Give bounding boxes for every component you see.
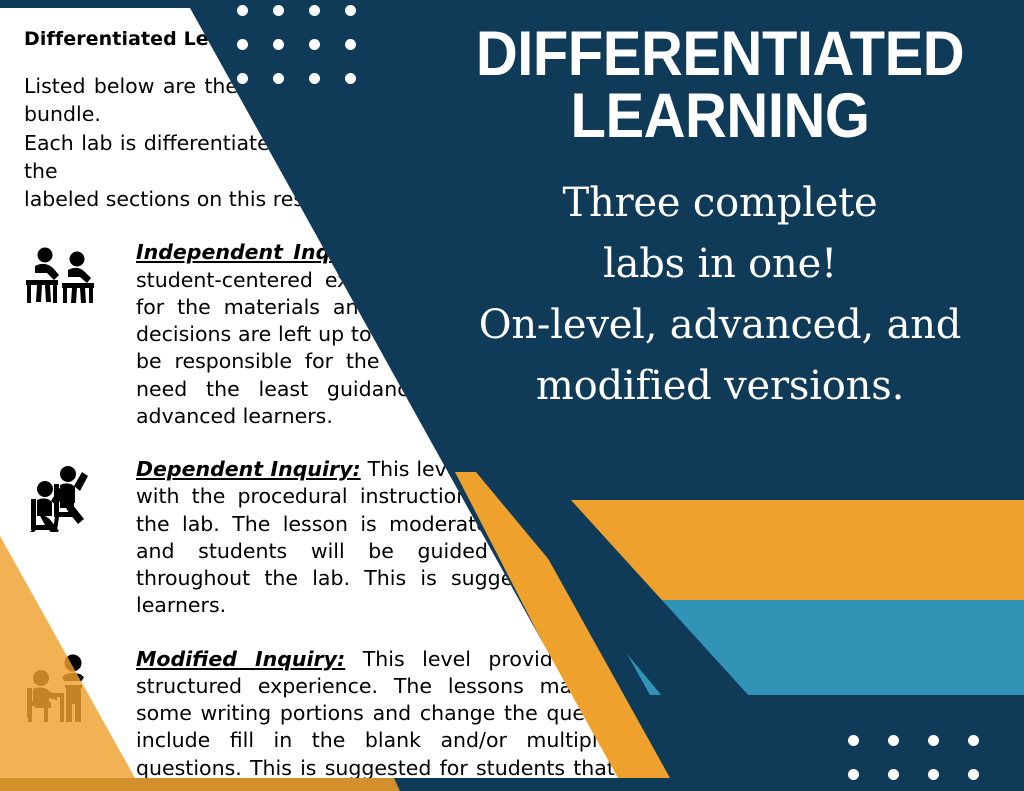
decorative-dot: [345, 39, 356, 50]
decorative-dot: [888, 769, 899, 780]
decorative-dot: [928, 769, 939, 780]
poster-canvas: Differentiated Learning: Listed below ar…: [0, 0, 1024, 791]
inquiry-term-label: Modified Inquiry:: [136, 647, 345, 671]
decorative-dot: [928, 735, 939, 746]
decorative-dot: [888, 735, 899, 746]
decorative-dot: [309, 39, 320, 50]
decorative-dot: [848, 735, 859, 746]
decorative-dot: [345, 73, 356, 84]
decorative-dot: [273, 73, 284, 84]
decorative-dot: [273, 39, 284, 50]
dot-grid-top-left: [237, 5, 381, 107]
teacher-helping-student-icon: [24, 646, 136, 791]
decorative-dot: [237, 5, 248, 16]
decorative-dot: [273, 5, 284, 16]
decorative-dot: [237, 73, 248, 84]
decorative-dot: [968, 735, 979, 746]
students-raising-hands-icon: [24, 456, 136, 620]
decorative-dot: [237, 39, 248, 50]
decorative-dot: [309, 5, 320, 16]
decorative-dot: [345, 5, 356, 16]
decorative-dot: [848, 769, 859, 780]
page-subtitle: Three complete labs in one! On-level, ad…: [420, 173, 1020, 416]
page-title: DIFFERENTIATED LEARNING: [444, 24, 996, 147]
inquiry-term-label: Dependent Inquiry:: [136, 457, 361, 481]
dot-grid-bottom-right: [848, 735, 1008, 791]
students-at-desks-icon: [24, 239, 136, 430]
decorative-dot: [968, 769, 979, 780]
decorative-dot: [309, 73, 320, 84]
title-block: DIFFERENTIATED LEARNING Three complete l…: [420, 24, 1020, 417]
